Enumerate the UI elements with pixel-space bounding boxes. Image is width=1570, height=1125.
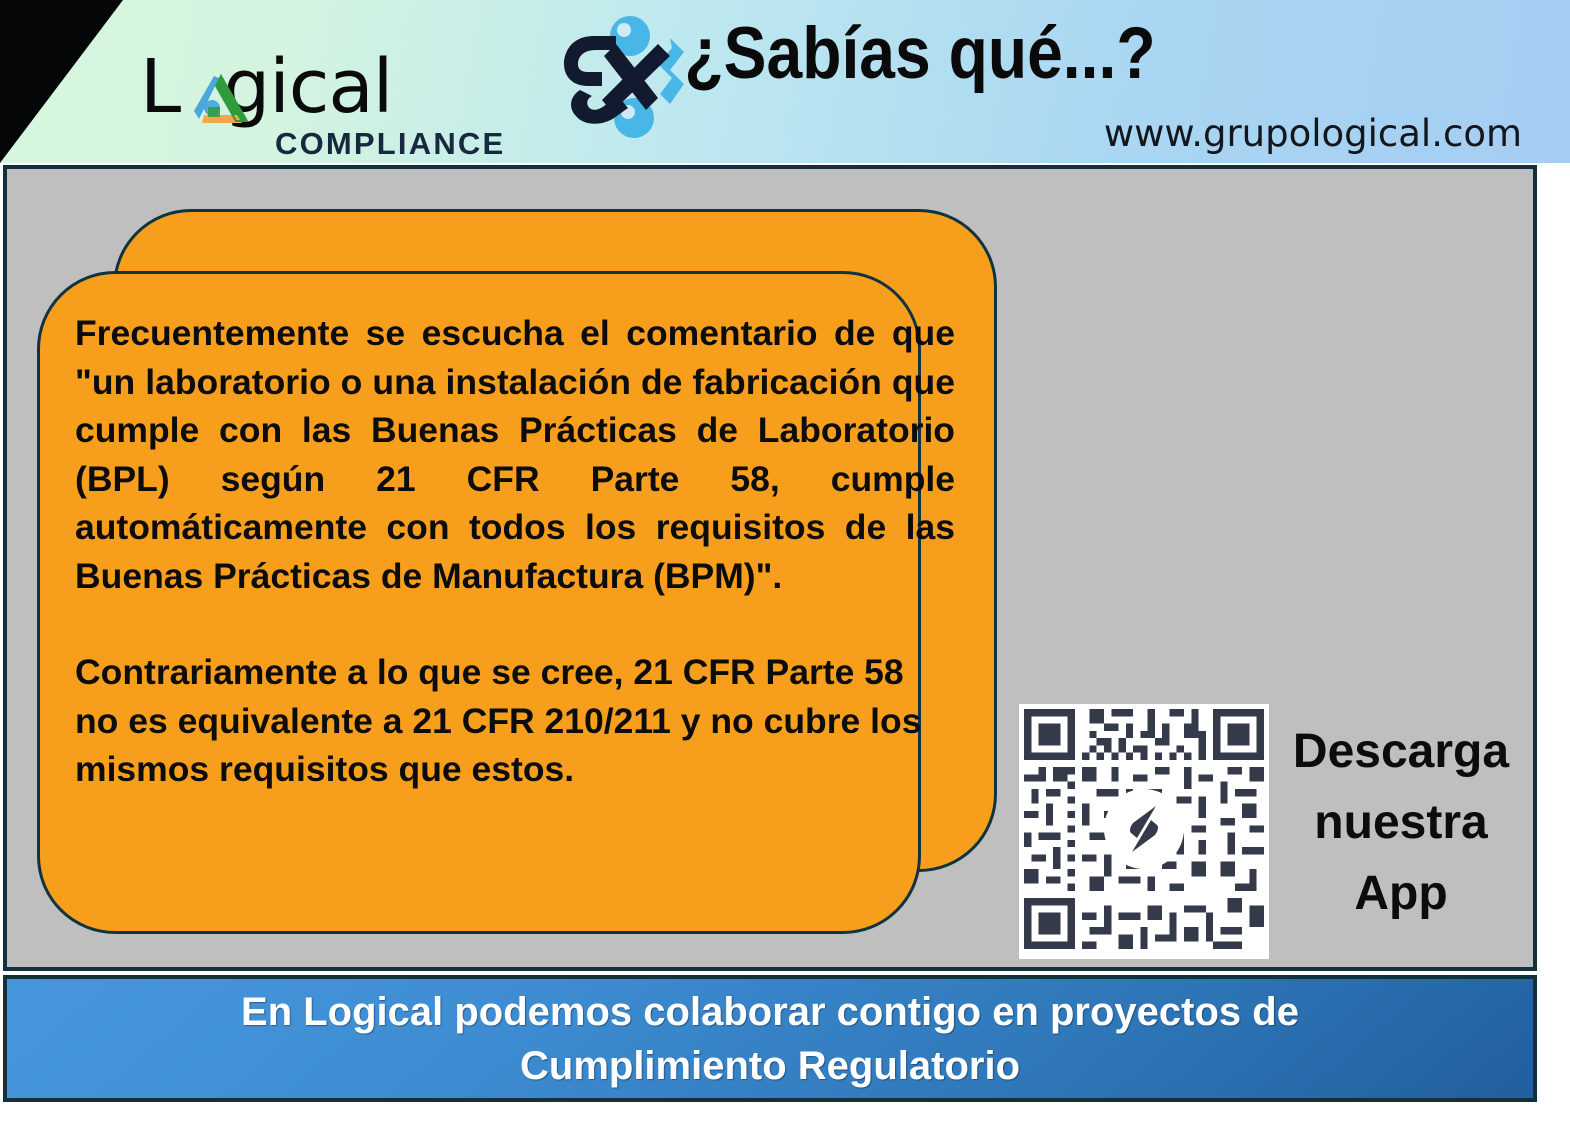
callout-paragraph-1: Frecuentemente se escucha el comentario …: [75, 309, 955, 600]
brand-wordmark: Logical: [140, 50, 392, 124]
corner-triangle-decoration: [0, 0, 123, 163]
brand-subtitle: COMPLIANCE: [275, 126, 505, 162]
website-url[interactable]: www.grupological.com: [1104, 112, 1522, 155]
page-footer: En Logical podemos colaborar contigo en …: [3, 975, 1537, 1102]
qr-logo-background: [1104, 789, 1184, 869]
logical-triangle-icon: [190, 73, 252, 131]
caption-line-2: nuestra: [1281, 787, 1521, 858]
footer-line-2: Cumplimiento Regulatorio: [520, 1039, 1020, 1093]
qr-code-icon[interactable]: [1019, 704, 1269, 959]
caption-line-1: Descarga: [1281, 716, 1521, 787]
caption-line-3: App: [1281, 858, 1521, 929]
callout-box: Frecuentemente se escucha el comentario …: [37, 209, 997, 934]
brand-logo: Logical COMPLIANCE: [140, 14, 550, 154]
page-header: Logical COMPLIANCE ¿Sabías qué...? www.g…: [0, 0, 1570, 163]
callout-text: Frecuentemente se escucha el comentario …: [75, 309, 955, 794]
content-panel: Frecuentemente se escucha el comentario …: [3, 165, 1537, 971]
callout-paragraph-2: Contrariamente a lo que se cree, 21 CFR …: [75, 648, 955, 794]
footer-line-1: En Logical podemos colaborar contigo en …: [241, 985, 1299, 1039]
compass-needle-icon: [1104, 789, 1184, 869]
page-title: ¿Sabías qué...?: [638, 12, 1201, 95]
app-download-caption: Descarga nuestra App: [1281, 716, 1521, 929]
app-download-block[interactable]: Descarga nuestra App: [1019, 704, 1519, 964]
